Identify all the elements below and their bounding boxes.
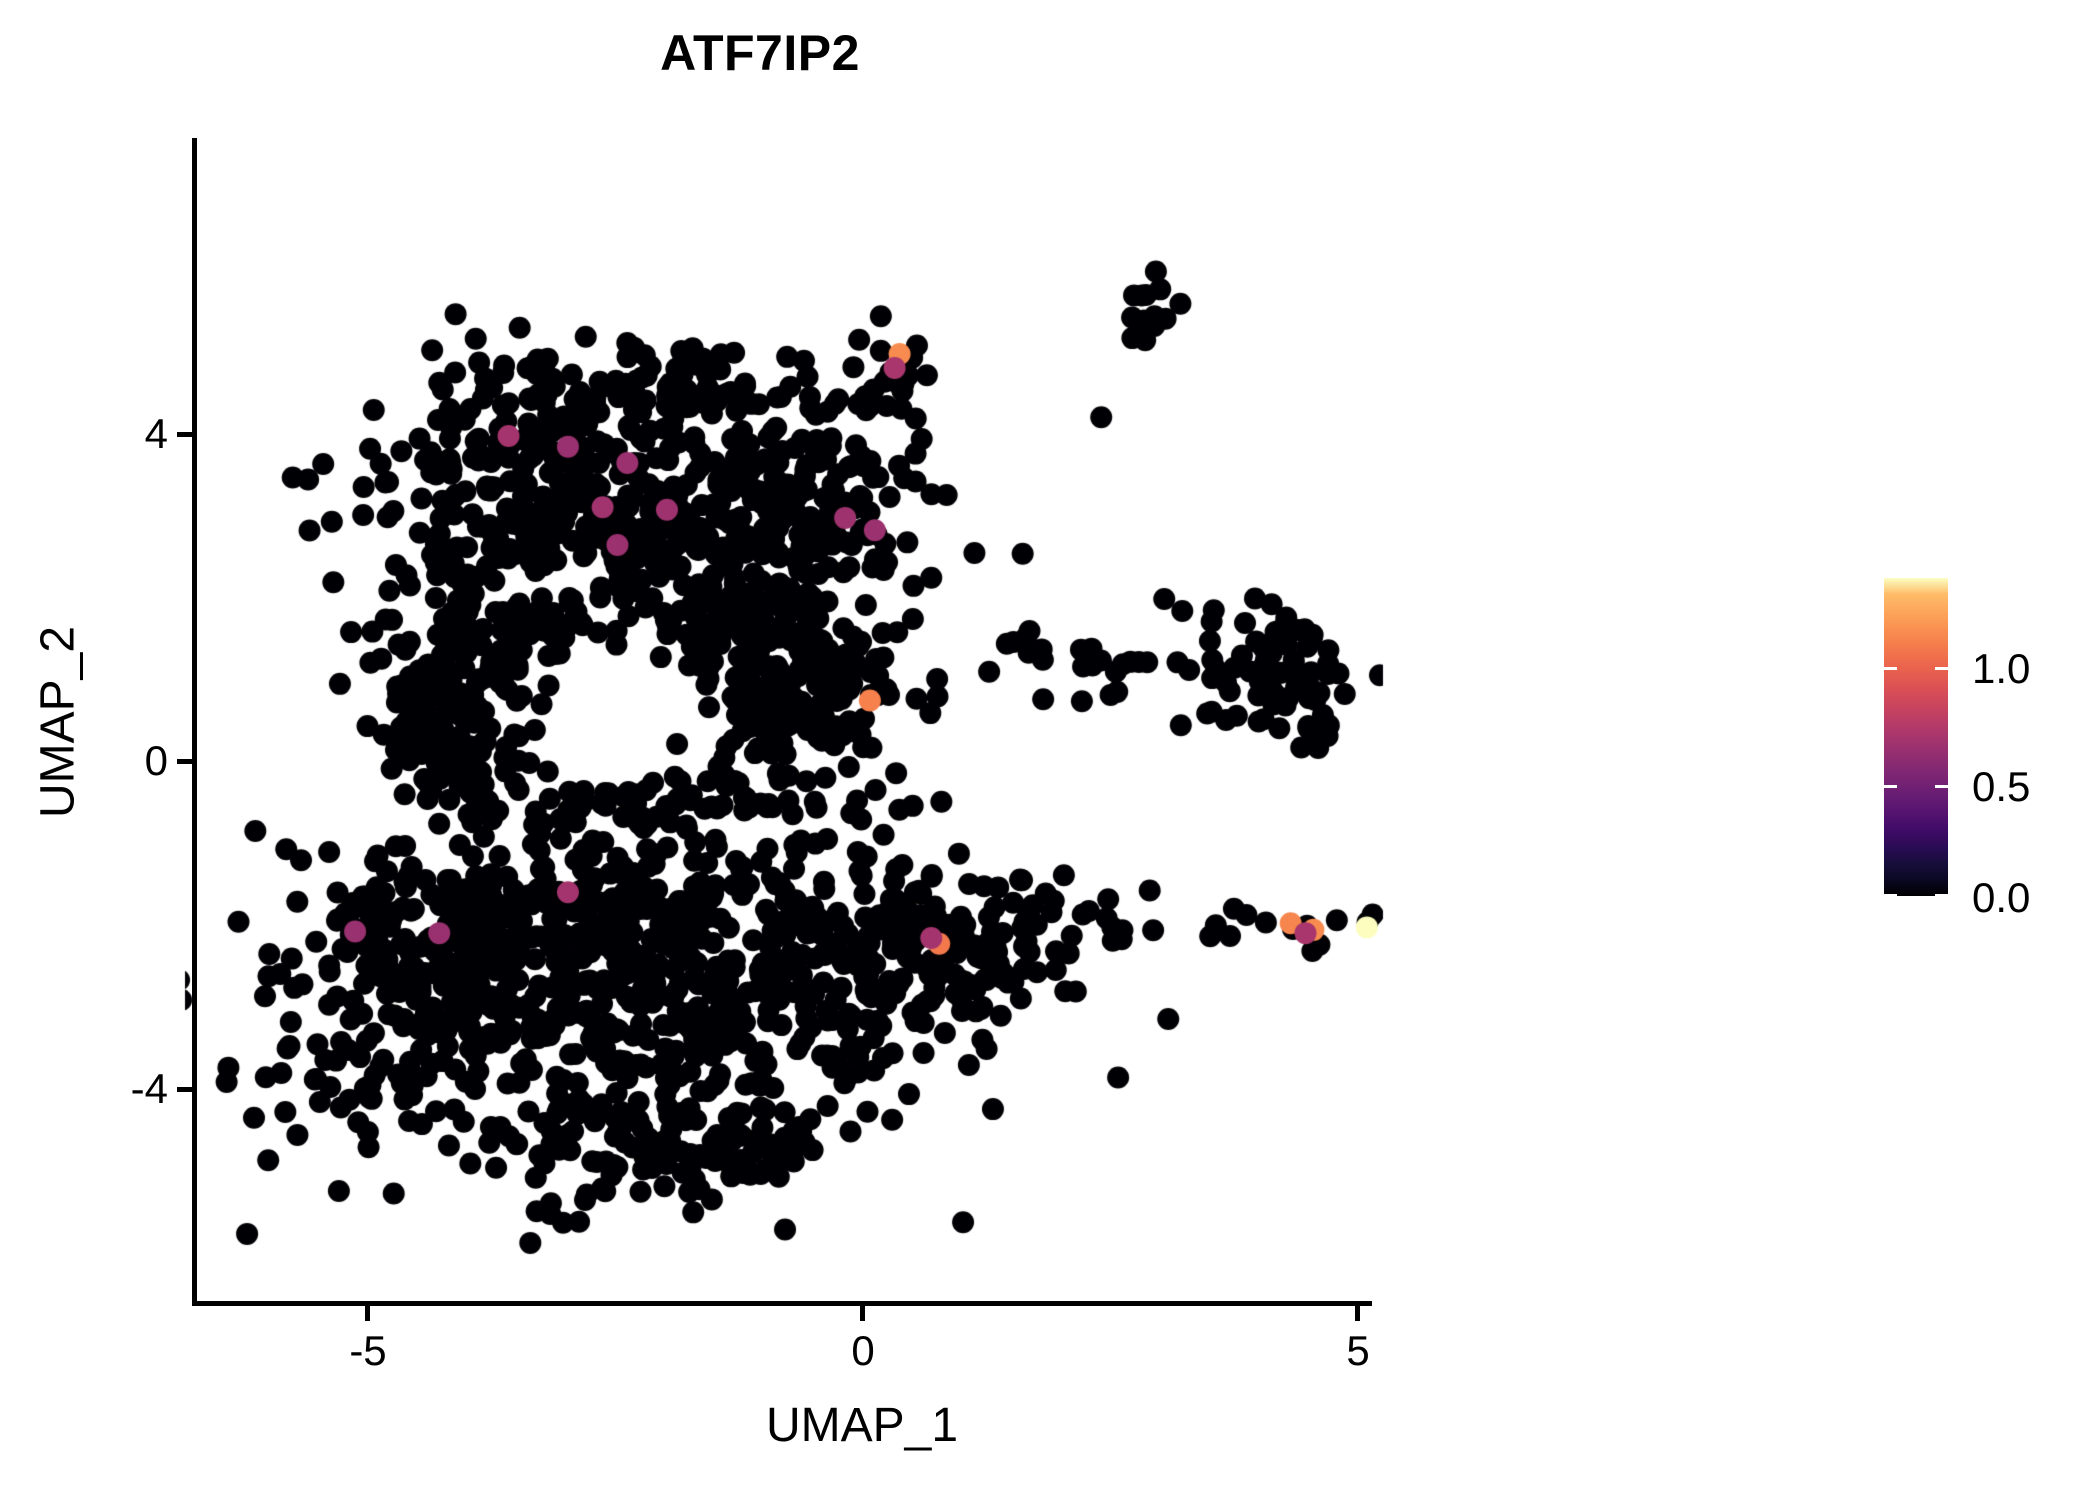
colorbar-tick-label: 0.5 — [1972, 763, 2030, 811]
x-tick-label: 5 — [1346, 1327, 1369, 1375]
y-tick-mark — [177, 432, 192, 437]
colorbar-tick — [1884, 785, 1897, 788]
colorbar-tick-label: 0.0 — [1972, 874, 2030, 922]
colorbar-tick — [1935, 785, 1948, 788]
colorbar-tick — [1935, 667, 1948, 670]
colorbar-gradient — [1884, 578, 1948, 896]
x-axis-title: UMAP_1 — [766, 1398, 958, 1453]
y-tick-mark — [177, 1087, 192, 1092]
scatter-canvas — [0, 0, 2100, 1500]
y-axis-line — [192, 138, 197, 1306]
x-tick-mark — [860, 1306, 865, 1321]
y-tick-label: 0 — [145, 737, 168, 785]
umap-feature-plot: ATF7IP2 4 0 -4 -5 0 5 UMAP_1 UMAP_2 1.0 … — [0, 0, 2100, 1500]
colorbar-tick — [1935, 894, 1948, 897]
x-tick-mark — [365, 1306, 370, 1321]
y-tick-label: -4 — [131, 1065, 168, 1113]
y-tick-mark — [177, 759, 192, 764]
x-tick-label: -5 — [349, 1327, 386, 1375]
plot-panel: 4 0 -4 -5 0 5 UMAP_1 UMAP_2 — [0, 0, 2100, 1500]
y-tick-label: 4 — [145, 410, 168, 458]
x-tick-mark — [1355, 1306, 1360, 1321]
colorbar-tick-label: 1.0 — [1972, 645, 2030, 693]
colorbar-tick — [1884, 667, 1897, 670]
colorbar-tick — [1884, 894, 1897, 897]
y-axis-title: UMAP_2 — [31, 626, 86, 818]
x-tick-label: 0 — [851, 1327, 874, 1375]
